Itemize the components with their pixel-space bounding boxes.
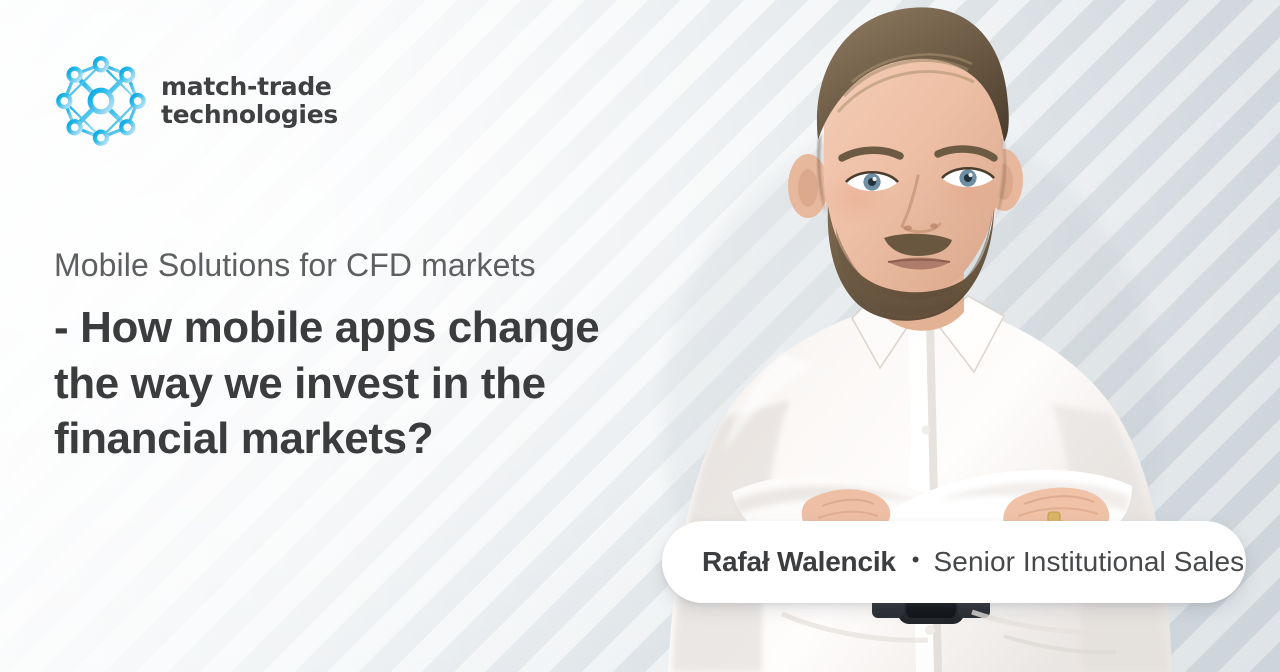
page-title: - How mobile apps change the way we inve… <box>54 300 634 466</box>
headline-block: Mobile Solutions for CFD markets - How m… <box>54 246 694 467</box>
webinar-banner: match-trade technologies Mobile Solution… <box>0 0 1280 672</box>
bullet-separator-icon: • <box>912 549 920 571</box>
brand-wordmark-line1: match-trade <box>161 73 338 101</box>
speaker-role: Senior Institutional Sales <box>934 546 1245 578</box>
eyebrow-text: Mobile Solutions for CFD markets <box>54 246 694 284</box>
match-trade-network-snowflake-icon <box>54 52 148 150</box>
brand-wordmark: match-trade technologies <box>161 73 338 129</box>
speaker-badge: Rafał Walencik • Senior Institutional Sa… <box>662 521 1246 603</box>
brand-logo[interactable]: match-trade technologies <box>54 52 338 150</box>
speaker-name: Rafał Walencik <box>702 546 896 578</box>
brand-wordmark-line2: technologies <box>161 101 338 129</box>
